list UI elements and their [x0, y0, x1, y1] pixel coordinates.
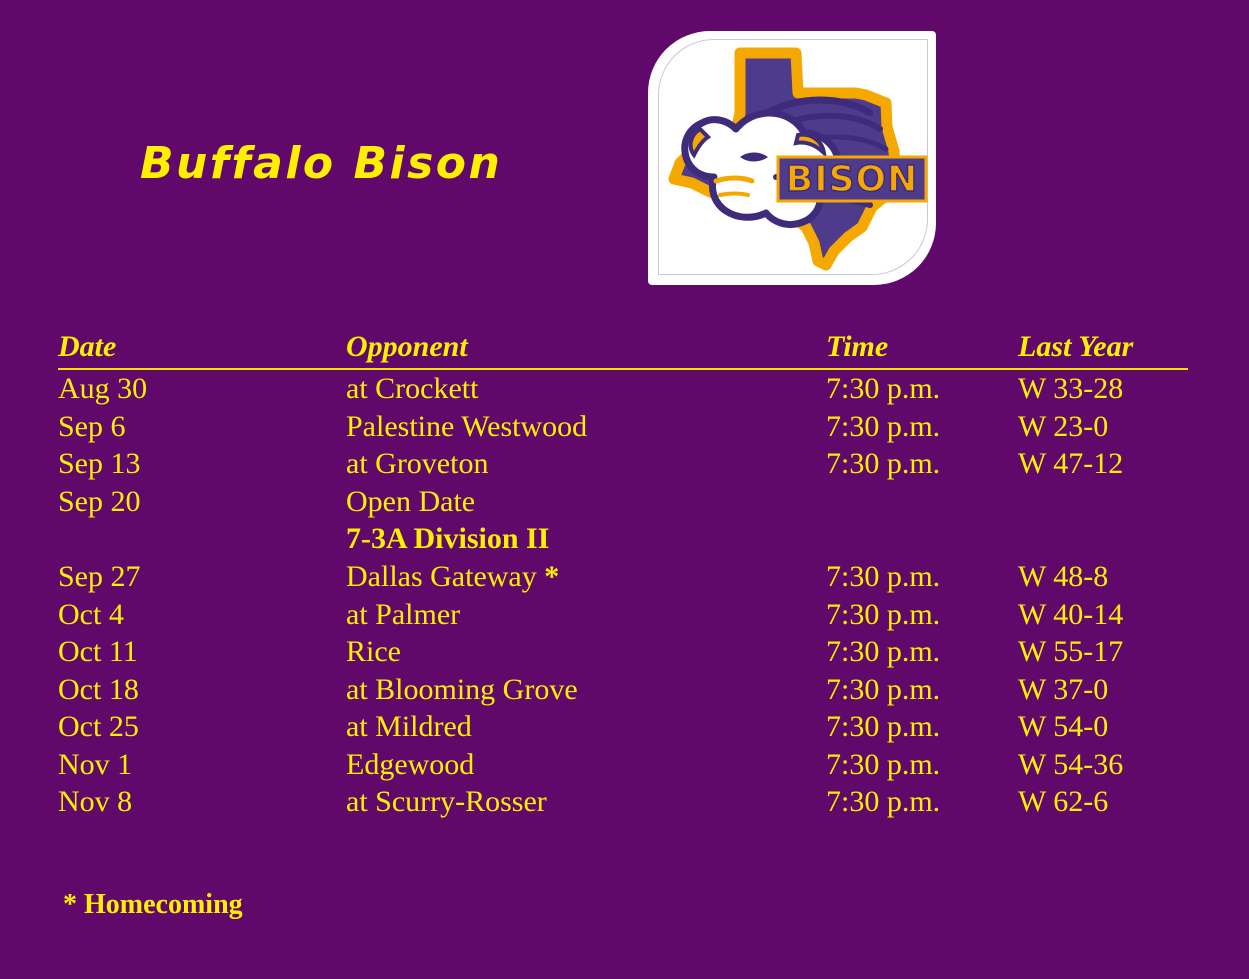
cell-opponent: at Scurry-Rosser: [346, 783, 826, 821]
column-header-date: Date: [58, 332, 346, 369]
cell-time: 7:30 p.m.: [826, 408, 1018, 446]
cell-date: Sep 6: [58, 408, 346, 446]
cell-last-year: W 48-8: [1018, 558, 1188, 596]
cell-opponent: Dallas Gateway *: [346, 558, 826, 596]
cell-time: 7:30 p.m.: [826, 746, 1018, 784]
table-row: Sep 20Open Date: [58, 483, 1188, 521]
table-row: Oct 25at Mildred7:30 p.m.W 54-0: [58, 708, 1188, 746]
cell-date: Oct 4: [58, 596, 346, 634]
cell-last-year: W 37-0: [1018, 671, 1188, 709]
cell-date: [58, 520, 346, 558]
page-title: Buffalo Bison: [140, 138, 502, 189]
cell-time: 7:30 p.m.: [826, 445, 1018, 483]
cell-last-year: W 54-36: [1018, 746, 1188, 784]
cell-date: Aug 30: [58, 369, 346, 408]
cell-time: [826, 483, 1018, 521]
schedule-section: Date Opponent Time Last Year Aug 30at Cr…: [58, 332, 1188, 821]
cell-time: 7:30 p.m.: [826, 596, 1018, 634]
column-header-last-year: Last Year: [1018, 332, 1188, 369]
cell-opponent: Palestine Westwood: [346, 408, 826, 446]
table-row: Nov 8at Scurry-Rosser7:30 p.m.W 62-6: [58, 783, 1188, 821]
cell-time: 7:30 p.m.: [826, 633, 1018, 671]
cell-date: Oct 25: [58, 708, 346, 746]
cell-date: Sep 27: [58, 558, 346, 596]
cell-opponent: 7-3A Division II: [346, 520, 826, 558]
cell-last-year: W 33-28: [1018, 369, 1188, 408]
cell-opponent: at Crockett: [346, 369, 826, 408]
cell-time: 7:30 p.m.: [826, 369, 1018, 408]
bison-logo-icon: BISON: [648, 31, 936, 285]
table-row: Nov 1Edgewood7:30 p.m.W 54-36: [58, 746, 1188, 784]
cell-date: Nov 8: [58, 783, 346, 821]
cell-last-year: W 62-6: [1018, 783, 1188, 821]
table-row: Sep 6Palestine Westwood7:30 p.m.W 23-0: [58, 408, 1188, 446]
table-row: Sep 13at Groveton7:30 p.m.W 47-12: [58, 445, 1188, 483]
cell-last-year: [1018, 483, 1188, 521]
table-row: Sep 27Dallas Gateway *7:30 p.m.W 48-8: [58, 558, 1188, 596]
cell-opponent: at Palmer: [346, 596, 826, 634]
homecoming-star: *: [544, 560, 559, 593]
table-row: Oct 11Rice7:30 p.m.W 55-17: [58, 633, 1188, 671]
column-header-time: Time: [826, 332, 1018, 369]
cell-date: Nov 1: [58, 746, 346, 784]
table-row: 7-3A Division II: [58, 520, 1188, 558]
cell-date: Oct 11: [58, 633, 346, 671]
cell-opponent: Open Date: [346, 483, 826, 521]
cell-last-year: W 54-0: [1018, 708, 1188, 746]
cell-time: 7:30 p.m.: [826, 783, 1018, 821]
bison-muzzle-line: [720, 194, 748, 196]
table-row: Aug 30at Crockett7:30 p.m.W 33-28: [58, 369, 1188, 408]
bison-wordmark-text: BISON: [786, 159, 919, 200]
cell-last-year: W 23-0: [1018, 408, 1188, 446]
page-header: Buffalo Bison: [0, 0, 1249, 300]
cell-opponent: Edgewood: [346, 746, 826, 784]
cell-opponent: at Mildred: [346, 708, 826, 746]
cell-time: 7:30 p.m.: [826, 558, 1018, 596]
column-header-opponent: Opponent: [346, 332, 826, 369]
table-row: Oct 4at Palmer7:30 p.m.W 40-14: [58, 596, 1188, 634]
table-row: Oct 18at Blooming Grove7:30 p.m.W 37-0: [58, 671, 1188, 709]
cell-time: 7:30 p.m.: [826, 708, 1018, 746]
cell-opponent: at Groveton: [346, 445, 826, 483]
schedule-table: Date Opponent Time Last Year Aug 30at Cr…: [58, 332, 1188, 821]
cell-last-year: W 55-17: [1018, 633, 1188, 671]
cell-last-year: W 40-14: [1018, 596, 1188, 634]
team-logo-card: BISON: [648, 31, 936, 285]
cell-date: Sep 13: [58, 445, 346, 483]
schedule-table-body: Aug 30at Crockett7:30 p.m.W 33-28Sep 6Pa…: [58, 369, 1188, 821]
cell-time: 7:30 p.m.: [826, 671, 1018, 709]
table-header-row: Date Opponent Time Last Year: [58, 332, 1188, 369]
cell-last-year: W 47-12: [1018, 445, 1188, 483]
cell-opponent: at Blooming Grove: [346, 671, 826, 709]
cell-opponent: Rice: [346, 633, 826, 671]
cell-last-year: [1018, 520, 1188, 558]
cell-date: Sep 20: [58, 483, 346, 521]
cell-date: Oct 18: [58, 671, 346, 709]
cell-time: [826, 520, 1018, 558]
homecoming-footnote: * Homecoming: [63, 889, 243, 921]
